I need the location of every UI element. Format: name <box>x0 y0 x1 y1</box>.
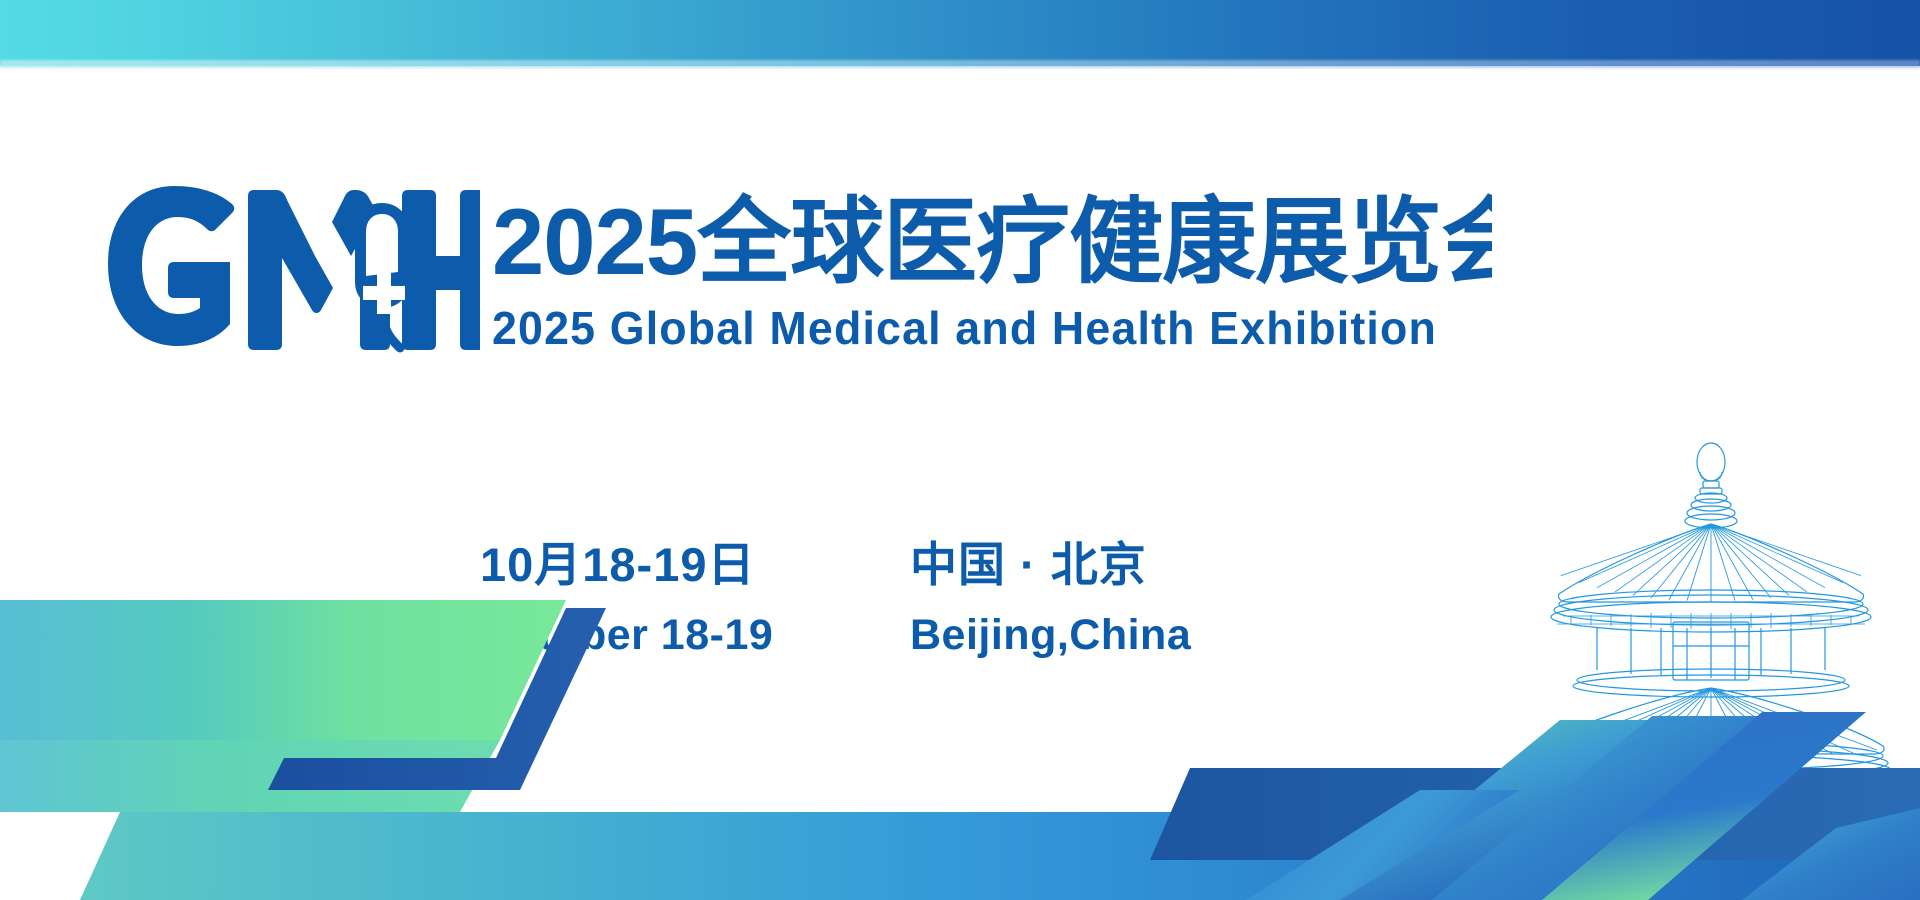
title-chinese: 2025全球医疗健康展览会 <box>492 190 1512 294</box>
bottom-decoration <box>0 560 1920 900</box>
title-english: 2025 Global Medical and Health Exhibitio… <box>492 300 1512 352</box>
top-bar-gloss-edge <box>0 60 1920 68</box>
title-block: 2025全球医疗健康展览会 2025 Global Medical and He… <box>492 190 1512 352</box>
event-banner: GMH <box>0 0 1920 900</box>
title-english-text: 2025 Global Medical and Health Exhibitio… <box>492 302 1437 354</box>
title-chinese-text: 2025全球医疗健康展览会 <box>492 190 1492 294</box>
gmh-logo-mark <box>108 186 480 354</box>
top-gradient-bar <box>0 0 1920 66</box>
deco-band-green <box>0 600 566 740</box>
